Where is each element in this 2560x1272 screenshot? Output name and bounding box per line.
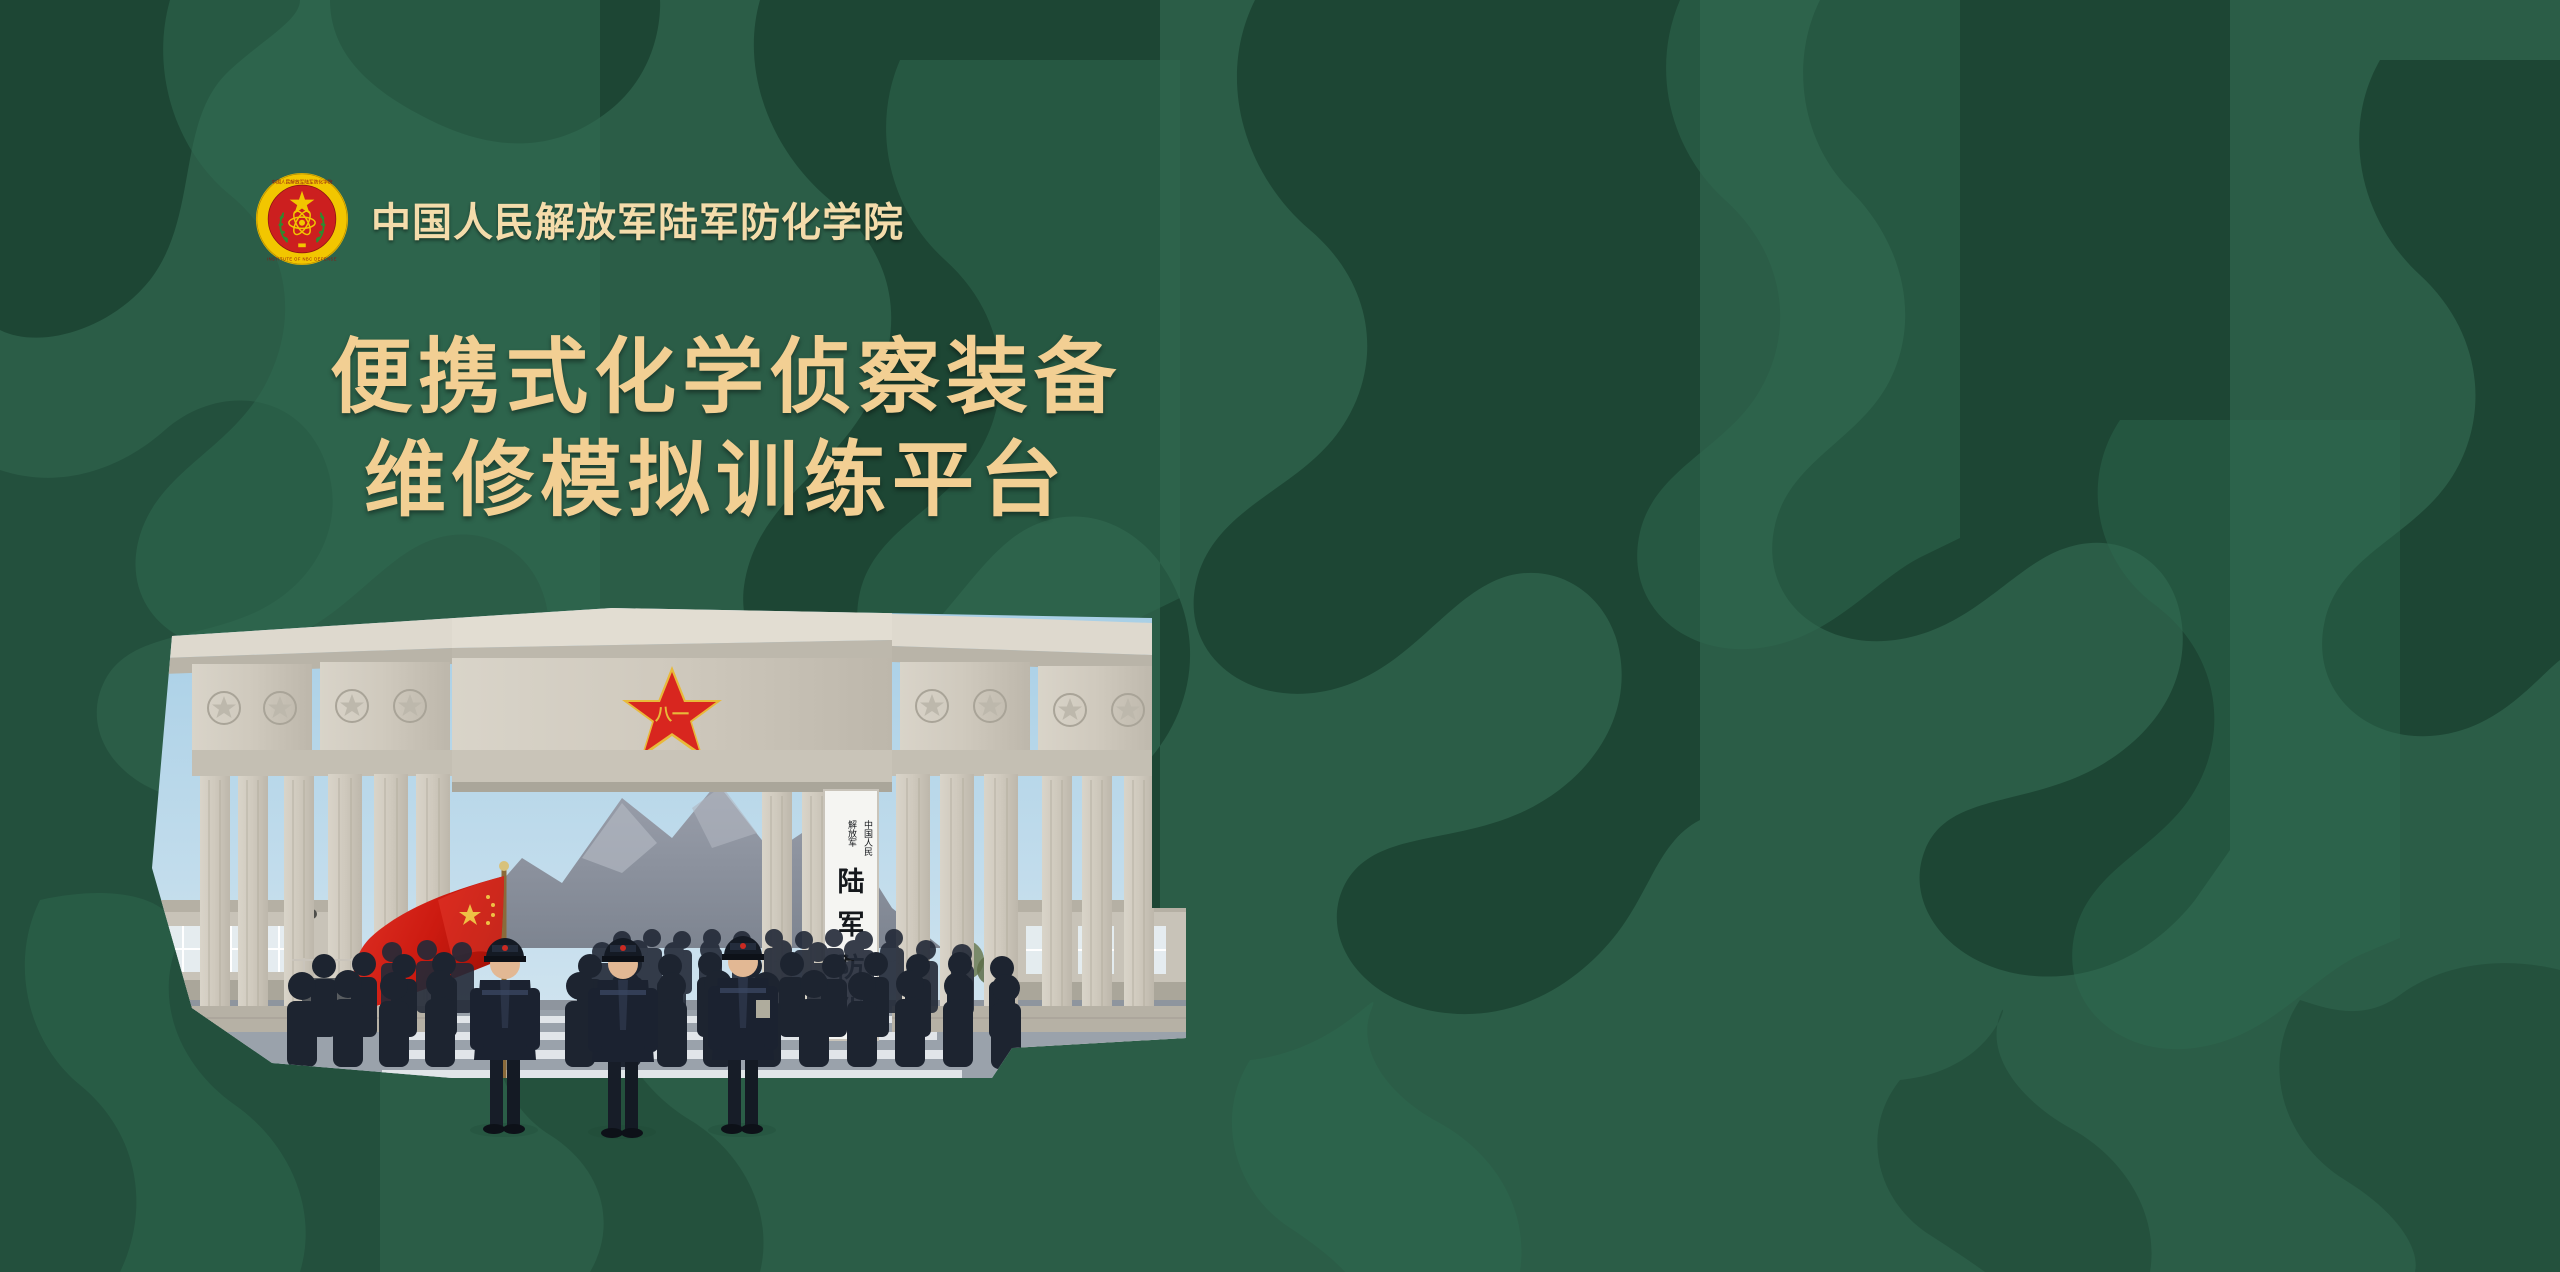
sign-char-0: 陆 [838,867,865,897]
brand-header: 中国人民解放军陆军防化学院 INSTITUTE OF NBC DEFENSE [255,172,904,266]
photo-clipped-content: 八一 [152,608,1188,1148]
academy-gate-photo: 八一 [152,608,1188,1148]
front-row-soldiers [470,936,778,1139]
star-bayi-text: 八一 [655,705,689,724]
sign-small-text-right: 中国人民 [863,819,873,857]
sign-small-text-left: 解放军 [847,819,857,848]
page-title-line-2: 维修模拟训练平台 [330,429,1122,532]
academy-name: 中国人民解放军陆军防化学院 [371,190,904,248]
landing-page: 中国人民解放军陆军防化学院 INSTITUTE OF NBC DEFENSE [0,0,2560,1272]
svg-text:INSTITUTE OF NBC DEFENSE: INSTITUTE OF NBC DEFENSE [267,256,337,261]
page-title: 便携式化学侦察装备 维修模拟训练平台 [330,326,1122,533]
academy-emblem-icon: 中国人民解放军陆军防化学院 INSTITUTE OF NBC DEFENSE [255,172,349,266]
gate-photo-illustration: 八一 [152,608,1188,1148]
page-title-line-1: 便携式化学侦察装备 [330,326,1122,429]
